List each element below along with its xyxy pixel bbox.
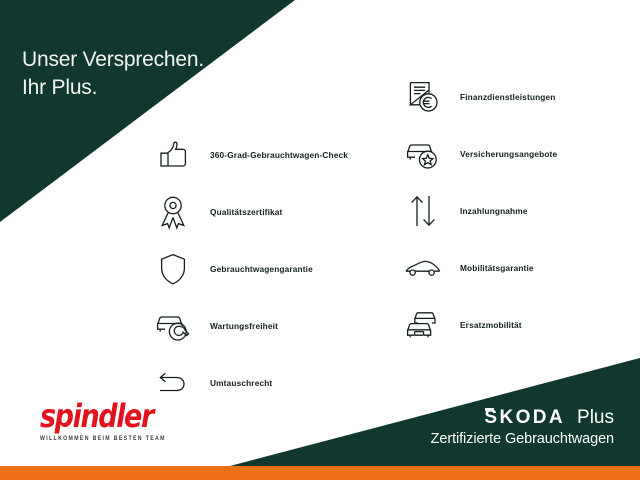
feature-label: Qualitätszertifikat xyxy=(210,207,282,217)
rosette-award-icon xyxy=(150,189,196,235)
brand-suffix: Plus xyxy=(577,407,614,428)
feature-label: Mobilitätsgarantie xyxy=(460,263,534,273)
caron-accent-icon xyxy=(485,408,494,411)
dealer-tagline: WILLKOMMEN BEIM BESTEN TEAM xyxy=(40,435,200,443)
brand-mark: SKODA xyxy=(484,407,572,428)
feature-label: Finanzdienstleistungen xyxy=(460,92,556,102)
brand-logo-row-1: SKODA Plus xyxy=(431,408,614,427)
brand-mark-text: SKODA xyxy=(484,407,564,428)
brand-subtitle: Zertifizierte Gebrauchtwagen xyxy=(431,431,614,447)
feature-item-360-check: 360-Grad-Gebrauchtwagen-Check xyxy=(150,128,348,182)
up-down-arrows-icon xyxy=(400,188,446,234)
feature-item-quality-certificate: Qualitätszertifikat xyxy=(150,185,348,239)
car-wrench-icon xyxy=(150,303,196,349)
dealer-wordmark: spindler xyxy=(40,401,200,433)
feature-item-warranty: Gebrauchtwagengarantie xyxy=(150,242,348,296)
feature-label: Umtauschrecht xyxy=(210,378,272,388)
dealer-logo: spindler WILLKOMMEN BEIM BESTEN TEAM xyxy=(40,401,200,441)
orange-footer-bar xyxy=(0,466,640,480)
feature-label: Wartungsfreiheit xyxy=(210,321,278,331)
feature-label: 360-Grad-Gebrauchtwagen-Check xyxy=(210,150,348,160)
feature-list-right: Finanzdienstleistungen Versicherungsange… xyxy=(400,70,557,355)
headline-line-2: Ihr Plus. xyxy=(22,74,204,102)
thumbs-up-icon xyxy=(150,132,196,178)
feature-item-replacement-mobility: Ersatzmobilität xyxy=(400,298,557,352)
two-cars-icon xyxy=(400,302,446,348)
feature-item-maintenance-free: Wartungsfreiheit xyxy=(150,299,348,353)
feature-item-mobility-guarantee: Mobilitätsgarantie xyxy=(400,241,557,295)
shield-icon xyxy=(150,246,196,292)
document-euro-icon xyxy=(400,74,446,120)
feature-item-financial-services: Finanzdienstleistungen xyxy=(400,70,557,124)
promo-banner: Unser Versprechen. Ihr Plus. 360-Grad-Ge… xyxy=(0,0,640,480)
car-star-icon xyxy=(400,131,446,177)
car-side-icon xyxy=(400,245,446,291)
return-arrow-icon xyxy=(150,360,196,406)
feature-label: Versicherungsangebote xyxy=(460,149,557,159)
page-title: Unser Versprechen. Ihr Plus. xyxy=(22,18,204,130)
feature-label: Gebrauchtwagengarantie xyxy=(210,264,313,274)
feature-item-trade-in: Inzahlungnahme xyxy=(400,184,557,238)
headline-line-1: Unser Versprechen. xyxy=(22,48,204,71)
brand-logo: SKODA Plus Zertifizierte Gebrauchtwagen xyxy=(431,408,614,447)
feature-item-insurance-offers: Versicherungsangebote xyxy=(400,127,557,181)
feature-list-left: 360-Grad-Gebrauchtwagen-Check Qualitätsz… xyxy=(150,128,348,413)
feature-label: Inzahlungnahme xyxy=(460,206,528,216)
feature-label: Ersatzmobilität xyxy=(460,320,522,330)
